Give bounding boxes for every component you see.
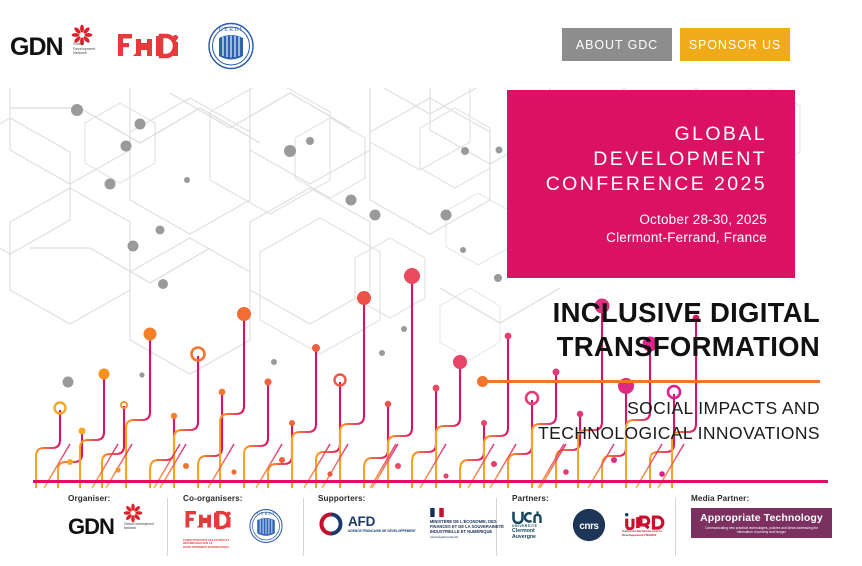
- organiser-label: Organiser:: [68, 494, 156, 503]
- footer-group-organiser: Organiser:: [68, 494, 156, 560]
- theme-title-line-2: TRANSFORMATION: [440, 330, 820, 364]
- footer-logo-ferdi[interactable]: FONDATION POUR LES ETUDES ET RECHERCHES …: [183, 508, 233, 549]
- event-location: Clermont-Ferrand, France: [606, 229, 767, 247]
- footer-divider-2: [303, 498, 304, 556]
- ferdi-logo-icon: [183, 508, 233, 532]
- footer-logo-ird[interactable]: Institut de Recherche pour le Développem…: [622, 512, 670, 537]
- event-dates: October 28-30, 2025: [606, 211, 767, 229]
- footer-group-media-partner: Media Partner: Appropriate Technology Co…: [691, 494, 832, 560]
- french-flag-icon: [430, 508, 444, 517]
- theme-subtitle-line-1: SOCIAL IMPACTS AND: [440, 396, 820, 421]
- ird-mark-icon: [622, 512, 666, 530]
- ministere-motto: Liberté Égalité Fraternité: [430, 536, 504, 539]
- conference-landing-page: GDN Global Development Network: [0, 0, 862, 566]
- appropriate-technology-tagline: Communicating new practical technologies…: [702, 526, 822, 534]
- footer-logo-cerdi[interactable]: CERDI: [247, 508, 285, 544]
- uca-mark-icon: [512, 510, 542, 524]
- divider-dot-icon: [477, 376, 488, 387]
- logo-cerdi-header[interactable]: CERDI: [205, 22, 257, 70]
- gdn-tagline: Global Development Network: [73, 42, 107, 56]
- divider-bar: [477, 380, 820, 383]
- supporters-label: Supporters:: [318, 494, 504, 503]
- ministere-wordmark: MINISTÈRE DE L'ÉCONOMIE, DES FINANCES ET…: [430, 519, 504, 534]
- svg-text:CERDI: CERDI: [257, 511, 275, 516]
- event-line-2: DEVELOPMENT: [593, 147, 767, 172]
- footer-divider-4: [675, 498, 676, 556]
- about-gdc-button[interactable]: ABOUT GDC: [562, 28, 672, 61]
- afd-ring-icon: [318, 511, 344, 537]
- sponsor-us-button[interactable]: SPONSOR US: [680, 28, 790, 61]
- cnrs-wordmark: cnrs: [579, 521, 599, 532]
- ird-tagline: Institut de Recherche pour le Développem…: [622, 530, 670, 537]
- event-line-3: CONFERENCE 2025: [546, 172, 767, 197]
- event-line-1: GLOBAL: [675, 122, 767, 147]
- theme-title-block: INCLUSIVE DIGITAL TRANSFORMATION SOCIAL …: [440, 296, 840, 446]
- gdn-burst-icon: [123, 503, 143, 523]
- event-title-box: GLOBAL DEVELOPMENT CONFERENCE 2025 Octob…: [507, 90, 795, 278]
- theme-title-line-1: INCLUSIVE DIGITAL: [440, 296, 820, 330]
- gdn-tagline: Global Development Network: [124, 522, 156, 530]
- hero-section: GLOBAL DEVELOPMENT CONFERENCE 2025 Octob…: [0, 88, 862, 488]
- footer-logo-appropriate-technology[interactable]: Appropriate Technology Communicating new…: [691, 508, 832, 538]
- hero-bottom-rule: [33, 480, 828, 483]
- logo-gdn-header[interactable]: GDN Global Development Network: [10, 30, 108, 64]
- gdn-wordmark: GDN: [68, 514, 114, 540]
- theme-subtitle-line-2: TECHNOLOGICAL INNOVATIONS: [440, 421, 820, 446]
- svg-text:CERDI: CERDI: [219, 27, 243, 33]
- footer-divider-1: [167, 498, 168, 556]
- footer-logo-cnrs[interactable]: cnrs: [572, 508, 606, 542]
- footer-group-partners: Partners: UNIVERSITÉ Clermont Auvergne c…: [512, 494, 670, 560]
- partners-label: Partners:: [512, 494, 670, 503]
- footer-group-supporters: Supporters: AFD AGENCE FRANCAISE DE DEVE…: [318, 494, 504, 560]
- uca-wordmark: Clermont Auvergne: [512, 528, 556, 541]
- footer-logo-gdn[interactable]: GDN Global Development Network: [68, 508, 156, 538]
- partners-footer: Organiser:: [0, 494, 862, 566]
- afd-wordmark: AFD: [348, 514, 416, 529]
- afd-tagline: AGENCE FRANCAISE DE DEVELOPPEMENT: [348, 529, 416, 533]
- ferdi-tagline: FONDATION POUR LES ETUDES ET RECHERCHES …: [183, 539, 231, 549]
- footer-logo-ministere[interactable]: MINISTÈRE DE L'ÉCONOMIE, DES FINANCES ET…: [430, 508, 504, 539]
- co-organisers-label: Co-organisers:: [183, 494, 285, 503]
- top-bar: GDN Global Development Network: [0, 0, 862, 88]
- footer-group-co-organisers: Co-organisers:: [183, 494, 285, 560]
- appropriate-technology-title: Appropriate Technology: [700, 512, 823, 524]
- logo-ferdi-header[interactable]: [116, 30, 180, 62]
- footer-logo-uca[interactable]: UNIVERSITÉ Clermont Auvergne: [512, 510, 556, 541]
- media-partner-label: Media Partner:: [691, 494, 832, 503]
- footer-logo-afd[interactable]: AFD AGENCE FRANCAISE DE DEVELOPPEMENT: [318, 511, 416, 537]
- theme-divider: [477, 376, 820, 386]
